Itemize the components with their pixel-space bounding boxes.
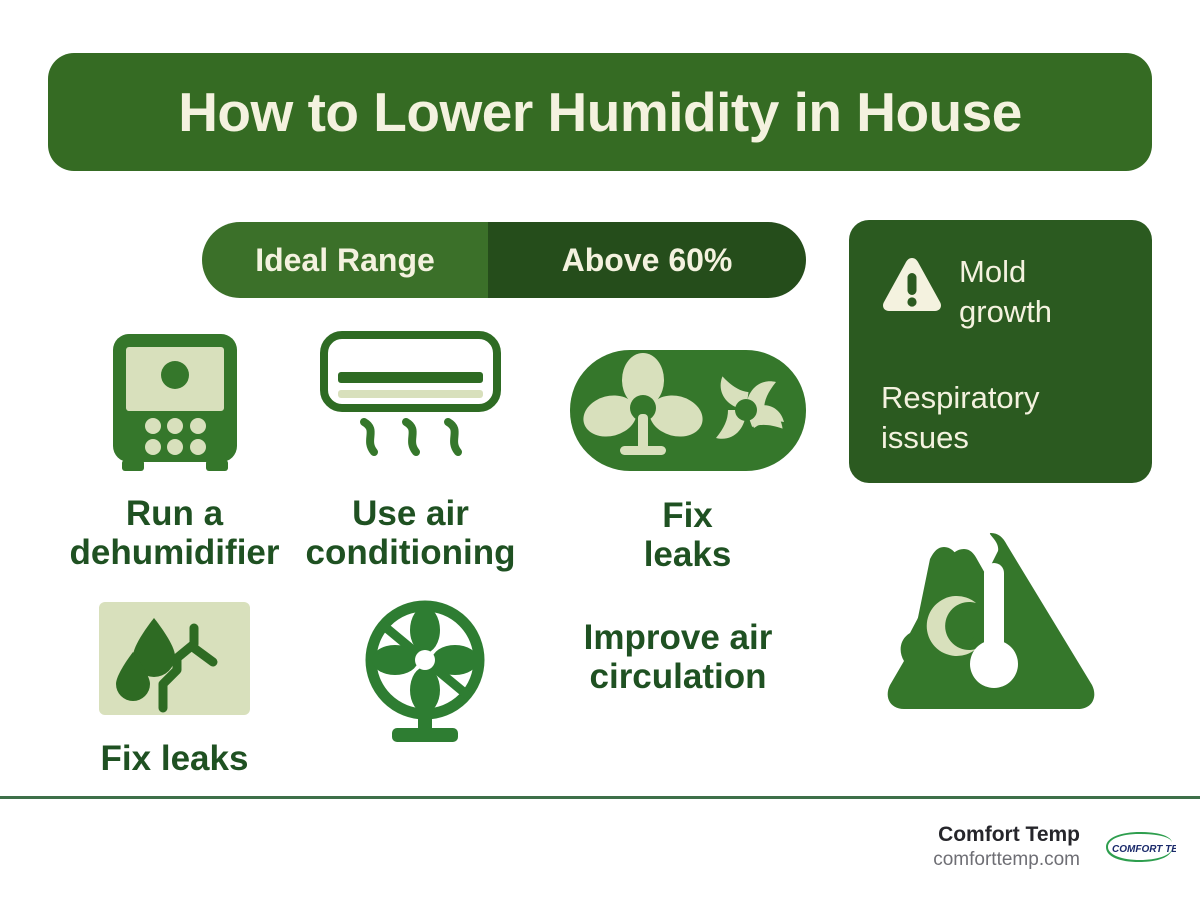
tip-use-air-conditioning: Use air conditioning <box>298 330 523 572</box>
mold-growth-label: Mold growth <box>959 252 1052 333</box>
tip-use-air-conditioning-label: Use air conditioning <box>306 494 516 572</box>
toggle-option-ideal-range[interactable]: Ideal Range <box>202 222 488 298</box>
dehumidifier-icon <box>100 330 250 480</box>
toggle-option-above-60[interactable]: Above 60% <box>488 222 806 298</box>
tip-run-a-dehumidifier: Run a dehumidifier <box>62 330 287 572</box>
respiratory-issues-label: Respiratory issues <box>881 378 1040 459</box>
toggle-option-ideal-range-label: Ideal Range <box>255 242 435 279</box>
tip-improve-air-circulation: Improve air circulation <box>548 618 808 696</box>
mountain-thermometer-icon <box>878 525 1106 725</box>
footer: Comfort Temp comforttemp.com COMFORT TEM… <box>933 822 1176 873</box>
toggle-option-above-60-label: Above 60% <box>562 242 733 279</box>
dual-fan-icon <box>568 348 808 478</box>
water-leak-pipe-icon <box>97 600 252 727</box>
warning-triangle-icon <box>881 256 943 317</box>
risks-warning-card: Mold growth Respiratory issues <box>849 220 1152 483</box>
footer-text-block: Comfort Temp comforttemp.com <box>933 822 1080 873</box>
tip-mountain-thermometer <box>872 525 1112 725</box>
website-url[interactable]: comforttemp.com <box>933 848 1080 873</box>
brand-name: Comfort Temp <box>933 822 1080 848</box>
tip-fix-leaks-fans-label: Fix leaks <box>644 496 732 574</box>
logo-wordmark: COMFORT TEMP <box>1112 844 1176 855</box>
infographic-page: How to Lower Humidity in House Ideal Ran… <box>0 0 1200 901</box>
tip-fix-leaks-pipe: Fix leaks <box>62 600 287 778</box>
comfort-temp-logo: COMFORT TEMP <box>1098 830 1176 864</box>
tip-fix-leaks-fans: Fix leaks <box>560 348 815 574</box>
pedestal-fan-icon <box>348 598 503 753</box>
tip-pedestal-fan <box>330 598 520 753</box>
mold-growth-row: Mold growth <box>881 252 1052 333</box>
air-conditioner-icon <box>318 330 503 480</box>
humidity-range-toggle[interactable]: Ideal Range Above 60% <box>202 222 806 298</box>
tip-fix-leaks-pipe-label: Fix leaks <box>101 739 249 778</box>
tip-improve-air-circulation-label: Improve air circulation <box>584 618 773 696</box>
footer-divider <box>0 796 1200 799</box>
tip-run-a-dehumidifier-label: Run a dehumidifier <box>69 494 279 572</box>
title-banner: How to Lower Humidity in House <box>48 53 1152 171</box>
page-title: How to Lower Humidity in House <box>178 85 1022 140</box>
